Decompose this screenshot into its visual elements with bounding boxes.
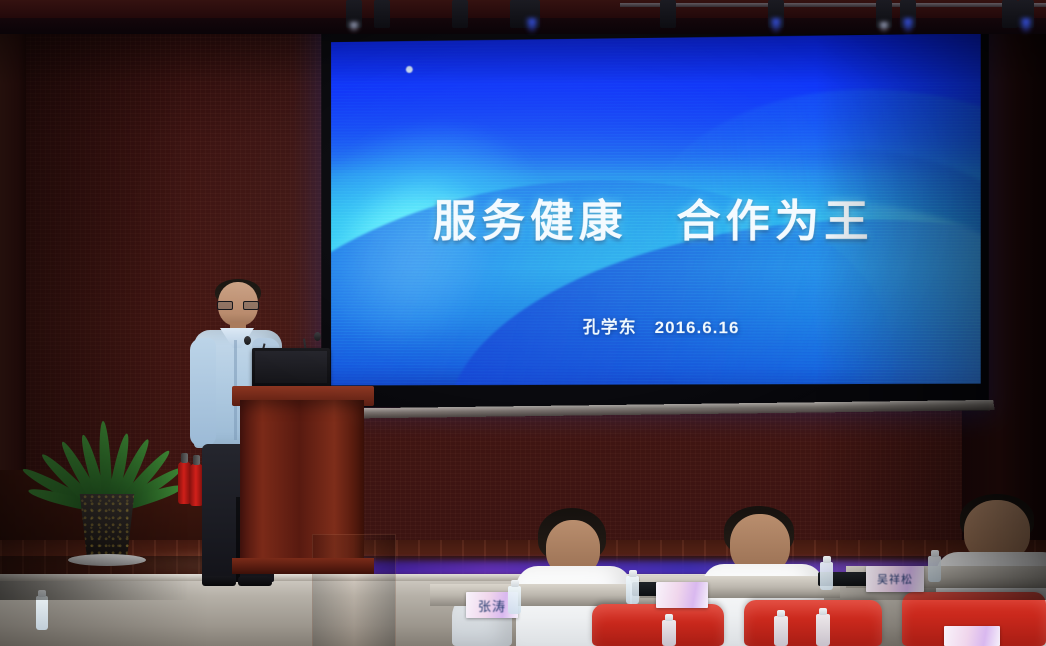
- stage-light-9: [900, 0, 916, 28]
- water-bottle-1: [508, 586, 521, 614]
- presenter-shoe-right: [238, 576, 272, 586]
- podium-front-panel: [312, 534, 396, 646]
- presentation-screen: 服务健康 合作为王 孔学东 2016.6.16: [321, 15, 989, 411]
- plant-pot: [76, 494, 138, 560]
- water-bottle-3: [820, 562, 833, 590]
- potted-plant: [46, 368, 166, 568]
- lighting-truss: [620, 3, 1046, 7]
- water-bottle-8: [36, 596, 48, 630]
- conference-desk-1: [430, 584, 630, 606]
- water-bottle-6: [774, 616, 788, 646]
- stage-light-5: [524, 0, 540, 28]
- presenter-shoe-left: [202, 576, 236, 586]
- microphone-head-1: [244, 336, 251, 345]
- audience-chair-1[interactable]: [592, 604, 724, 646]
- water-bottle-7: [816, 614, 830, 646]
- podium-body: [240, 400, 364, 570]
- auditorium-scene: 服务健康 合作为王 孔学东 2016.6.16: [0, 0, 1046, 646]
- stage-light-7: [768, 0, 784, 28]
- stage-light-6: [660, 0, 676, 28]
- stage-light-1: [346, 0, 362, 28]
- name-placard-3: 吴祥松: [866, 566, 924, 592]
- podium-area: [188, 282, 388, 592]
- podium-base: [232, 558, 374, 574]
- laptop: [252, 348, 330, 390]
- ceiling: [0, 0, 1046, 34]
- glasses-icon: [217, 301, 259, 310]
- stage-light-3: [452, 0, 468, 28]
- microphone-head-2: [314, 332, 321, 341]
- plant-saucer: [68, 554, 146, 566]
- water-bottle-2: [626, 576, 639, 604]
- name-placard-2: [656, 582, 708, 608]
- name-placard-1-text: 张涛: [478, 596, 506, 615]
- water-bottle-5: [662, 620, 676, 646]
- audience-chair-2[interactable]: [744, 600, 882, 646]
- stage-light-2: [374, 0, 390, 28]
- presenter-left-arm: [190, 338, 216, 446]
- name-placard-3-text: 吴祥松: [877, 571, 913, 587]
- water-bottle-4: [928, 556, 941, 582]
- screen-display: 服务健康 合作为王 孔学东 2016.6.16: [329, 33, 981, 388]
- led-scanline-overlay: [329, 33, 981, 388]
- name-placard-4: [944, 626, 1000, 646]
- stage-light-10: [1002, 0, 1018, 28]
- glasses-lens-right: [243, 301, 259, 310]
- stage-light-8: [876, 0, 892, 28]
- stage-light-11: [1018, 0, 1034, 28]
- glasses-lens-left: [217, 301, 233, 310]
